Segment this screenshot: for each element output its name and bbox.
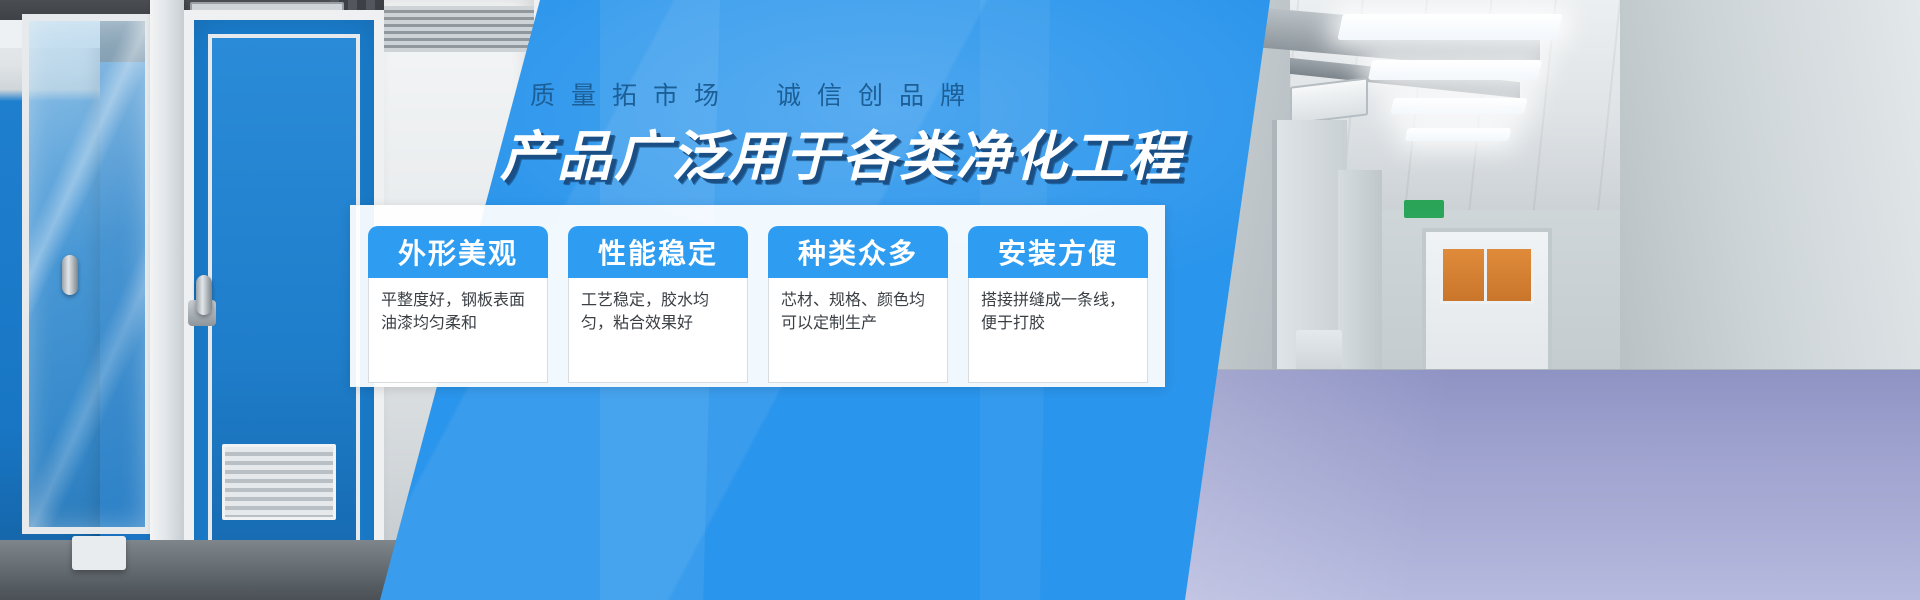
banner-subtitle: 质量拓市场 诚信创品牌 xyxy=(530,76,981,112)
feature-card-body: 搭接拼缝成一条线，便于打胶 xyxy=(968,278,1148,383)
feature-card-body: 芯材、规格、颜色均可以定制生产 xyxy=(768,278,948,383)
feature-card[interactable]: 安装方便 搭接拼缝成一条线，便于打胶 xyxy=(968,226,1148,383)
feature-card-body: 平整度好，钢板表面油漆均匀柔和 xyxy=(368,278,548,383)
feature-card-title: 安装方便 xyxy=(968,226,1148,278)
feature-card[interactable]: 外形美观 平整度好，钢板表面油漆均匀柔和 xyxy=(368,226,548,383)
promo-banner: 质量拓市场 诚信创品牌 产品广泛用于各类净化工程 外形美观 平整度好，钢板表面油… xyxy=(0,0,1920,600)
feature-card[interactable]: 性能稳定 工艺稳定，胶水均匀，粘合效果好 xyxy=(568,226,748,383)
feature-card-title: 外形美观 xyxy=(368,226,548,278)
banner-headline: 产品广泛用于各类净化工程 xyxy=(500,112,1184,191)
feature-card-list: 外形美观 平整度好，钢板表面油漆均匀柔和 性能稳定 工艺稳定，胶水均匀，粘合效果… xyxy=(368,226,1148,383)
feature-card-title: 性能稳定 xyxy=(568,226,748,278)
feature-card[interactable]: 种类众多 芯材、规格、颜色均可以定制生产 xyxy=(768,226,948,383)
feature-card-title: 种类众多 xyxy=(768,226,948,278)
feature-card-body: 工艺稳定，胶水均匀，粘合效果好 xyxy=(568,278,748,383)
